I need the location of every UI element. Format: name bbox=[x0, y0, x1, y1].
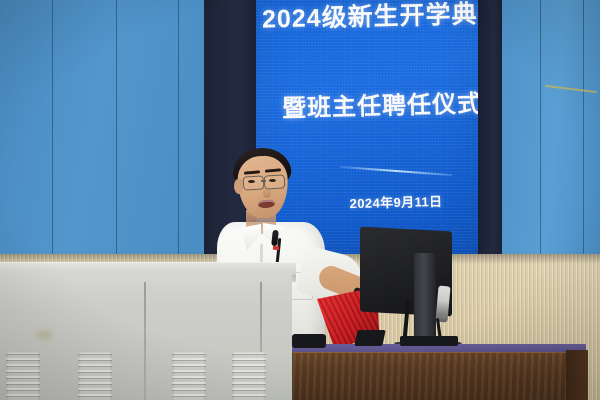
cabinet-vent-louver bbox=[172, 352, 206, 400]
speaker-ear bbox=[234, 179, 243, 194]
photo-scene: 2024级新生开学典礼 暨班主任聘任仪式 2024年9月11日 bbox=[0, 0, 600, 400]
wooden-desk-front bbox=[286, 353, 586, 400]
glasses-lens-left bbox=[243, 175, 265, 190]
desk-device bbox=[292, 334, 326, 348]
monitor-stand-neck bbox=[414, 253, 436, 349]
cabinet-stain bbox=[36, 330, 52, 340]
cabinet-vent-louver bbox=[78, 352, 112, 400]
cabinet-vent-louver bbox=[6, 352, 40, 400]
cabinet-door-seam bbox=[144, 282, 146, 400]
desk-keyboard bbox=[400, 336, 458, 346]
cabinet-vent-louver bbox=[232, 352, 266, 400]
speaker-nose bbox=[263, 186, 271, 198]
desk-device bbox=[354, 330, 385, 346]
speaker-eye-right bbox=[269, 179, 276, 182]
microphone-red-band bbox=[273, 246, 279, 251]
desk-side-panel bbox=[566, 350, 588, 400]
glasses-bridge bbox=[261, 180, 266, 182]
speaker-eye-left bbox=[248, 180, 255, 183]
